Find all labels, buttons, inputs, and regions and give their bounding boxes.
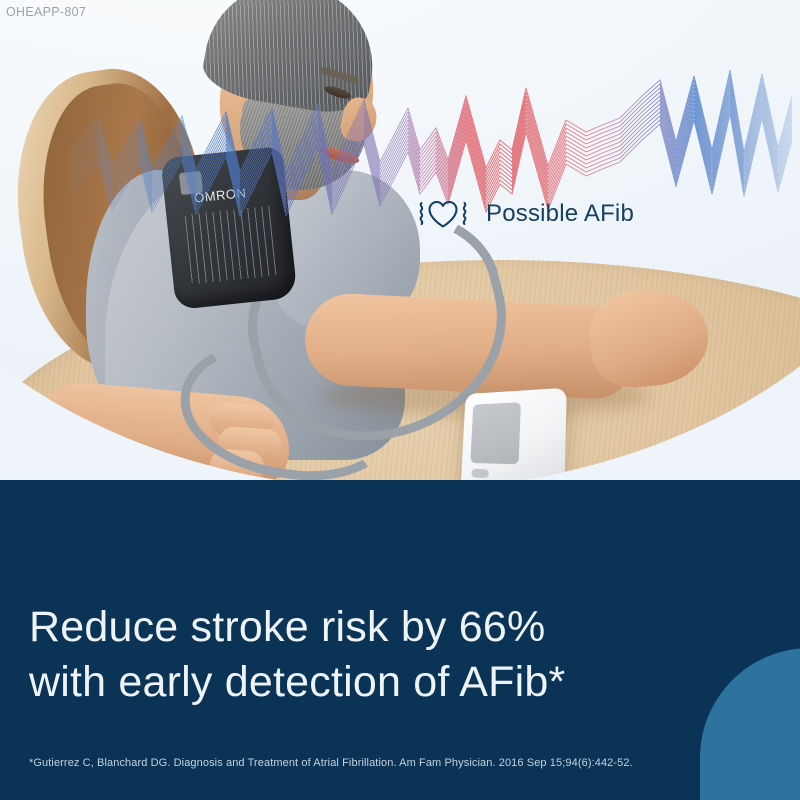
photo-ellipse-mask: OMRON: [0, 0, 800, 490]
monitor-start-button: [471, 469, 489, 479]
blood-pressure-monitor: [460, 388, 566, 490]
right-hand: [585, 284, 712, 392]
afib-label: Possible AFib: [486, 200, 634, 228]
headline: Reduce stroke risk by 66% with early det…: [29, 600, 729, 710]
afib-heart-icon: [416, 196, 470, 232]
asset-code-tag: OHEAPP-807: [6, 5, 86, 19]
hero-photo-panel: OMRON: [0, 0, 800, 500]
possible-afib-badge: Possible AFib: [416, 196, 634, 232]
cuff-texture: [185, 206, 278, 285]
footnote-citation: *Gutierrez C, Blanchard DG. Diagnosis an…: [29, 757, 709, 769]
poster-canvas: OMRON: [0, 0, 800, 800]
monitor-display: [470, 402, 521, 464]
